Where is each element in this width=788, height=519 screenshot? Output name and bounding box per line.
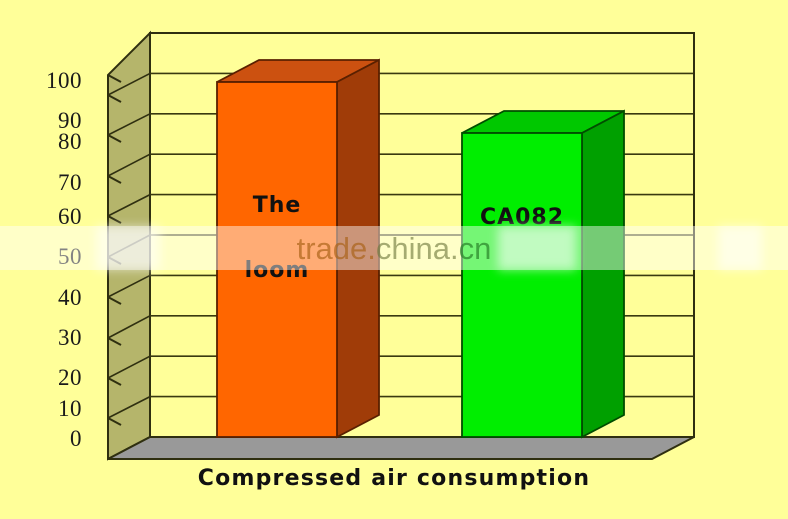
chart-graphic — [0, 0, 788, 519]
y-tick-0: 0 — [26, 427, 82, 450]
y-tick-30: 30 — [26, 326, 82, 349]
y-tick-20: 20 — [26, 366, 82, 389]
floor-plane — [108, 437, 694, 459]
bar-the-loom[interactable] — [217, 60, 379, 437]
bar-ca082-front — [462, 133, 582, 437]
y-tick-40: 40 — [26, 286, 82, 309]
bar-the-loom-label-line1: The — [217, 193, 337, 218]
x-axis-caption: Compressed air consumption — [0, 466, 788, 491]
y-axis-labels: 100 90 80 70 60 50 40 30 20 10 0 — [26, 0, 82, 519]
bar-ca082-side — [582, 111, 624, 437]
bar-the-loom-side — [337, 60, 379, 437]
y-tick-80: 80 — [26, 130, 82, 153]
y-tick-60: 60 — [26, 205, 82, 228]
y-tick-70: 70 — [26, 171, 82, 194]
y-tick-100: 100 — [26, 69, 82, 92]
bar-ca082[interactable] — [462, 111, 624, 437]
y-tick-10: 10 — [26, 397, 82, 420]
chart-container: 100 90 80 70 60 50 40 30 20 10 0 The loo… — [0, 0, 788, 519]
bar-ca082-label-line1: CA082 — [462, 205, 582, 230]
y-tick-50: 50 — [26, 245, 82, 268]
bar-the-loom-label-line2: loom — [217, 258, 337, 283]
